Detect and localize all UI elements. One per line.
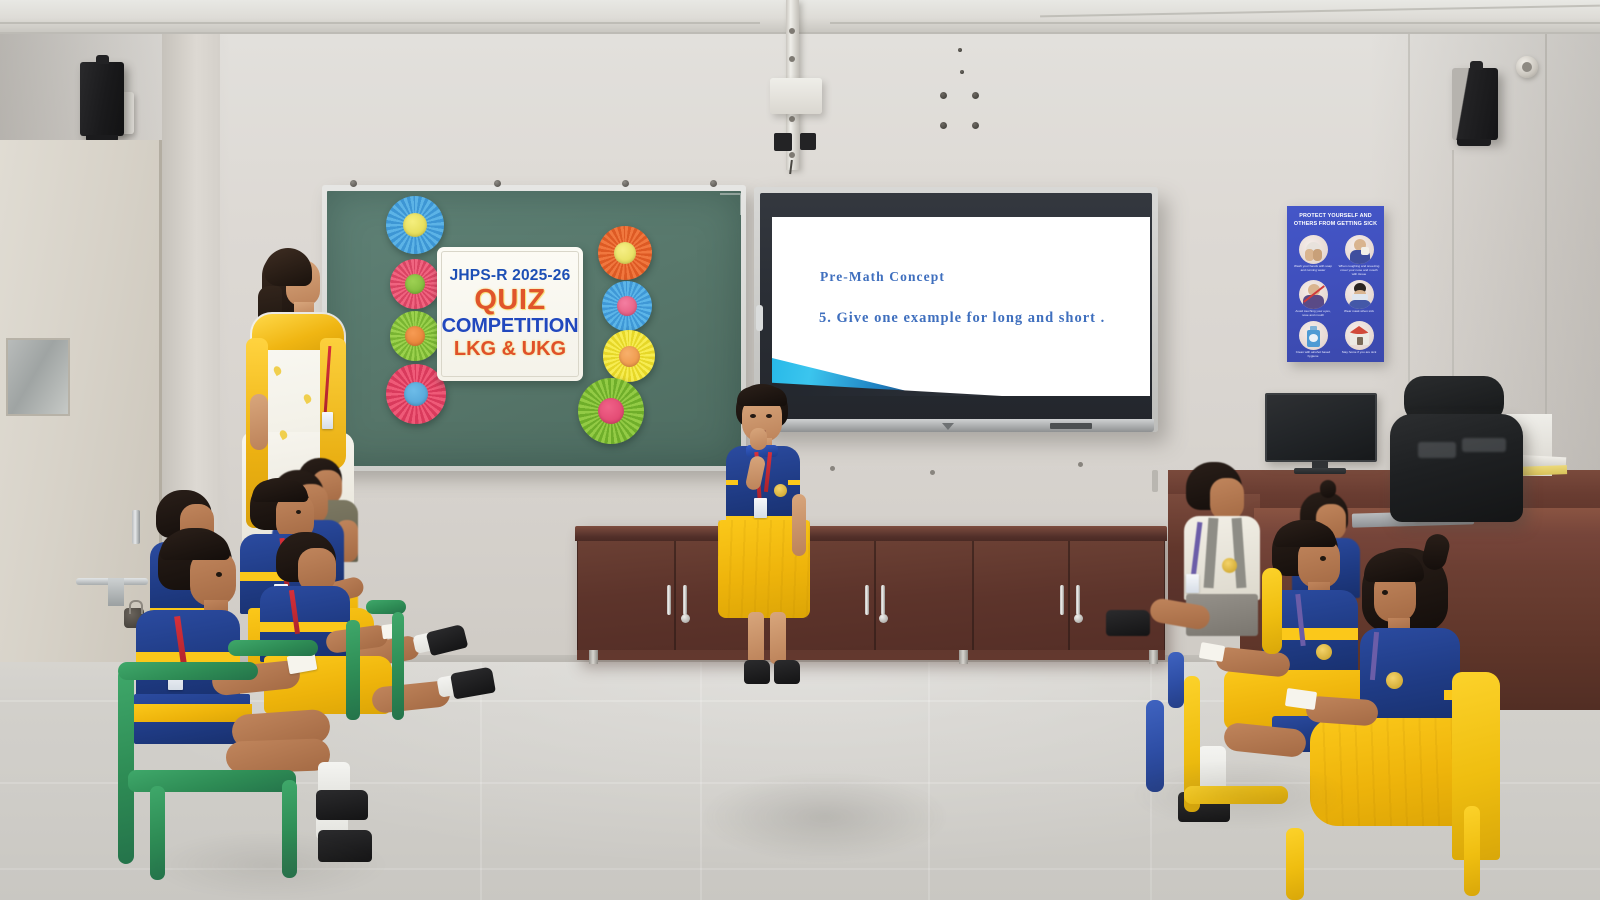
ceiling-seam: [0, 22, 760, 24]
poster-caption: Clean with alcohol based hygiene: [1292, 351, 1334, 359]
cabinet-handle[interactable]: [865, 585, 869, 615]
plastic-chair-green[interactable]: [228, 640, 318, 656]
projector-plate: [770, 78, 822, 114]
cabinet-handle[interactable]: [1060, 585, 1064, 615]
ceiling-fixture-dot: [940, 122, 947, 129]
floor-shadow: [1130, 760, 1350, 830]
shoe: [450, 667, 496, 700]
slide-heading: Pre-Math Concept: [820, 269, 945, 285]
display-bezel: Pre-Math Concept 5. Give one example for…: [760, 193, 1152, 424]
leg: [748, 612, 764, 664]
poster-panel-sanitizer: Clean with alcohol based hygiene: [1292, 321, 1334, 359]
leg: [770, 612, 786, 664]
washing-hands-icon: [1299, 235, 1328, 264]
cabinet-knob[interactable]: [681, 614, 690, 623]
school-emblem: [774, 484, 787, 497]
face: [1210, 478, 1244, 520]
avoid-touching-face-icon: [1299, 280, 1328, 309]
floor-shadow: [150, 830, 390, 900]
poster-panel-cover-cough: When coughing and sneezing cover your no…: [1338, 235, 1380, 277]
floor-shadow: [700, 772, 950, 862]
eye: [750, 414, 756, 418]
placard-line-competition: COMPETITION: [442, 316, 579, 337]
cabinet-door[interactable]: [875, 541, 973, 650]
display-ports: [1050, 423, 1092, 429]
display-screen[interactable]: Pre-Math Concept 5. Give one example for…: [772, 217, 1150, 396]
hair-bun: [1320, 480, 1336, 498]
cabinet-door[interactable]: [577, 541, 675, 650]
chair-reflection: [1462, 438, 1506, 452]
slide-question: 5. Give one example for long and short .: [819, 310, 1105, 327]
ceiling-fixture-dot: [960, 70, 964, 74]
cabinet-handle[interactable]: [881, 585, 885, 615]
wooden-storage-cabinet[interactable]: [577, 526, 1165, 660]
cabinet-door[interactable]: [973, 541, 1069, 650]
ceiling: [0, 0, 1600, 34]
sleeve-trim: [726, 480, 738, 485]
hair-fringe: [1274, 523, 1336, 547]
plastic-chair-green[interactable]: [118, 668, 134, 864]
shoe: [1106, 610, 1150, 636]
ceiling-fixture-dot: [972, 92, 979, 99]
hair-fringe: [1364, 552, 1424, 582]
floor-tile-line: [700, 662, 702, 900]
placard-line-school-year: JHPS-R 2025-26: [450, 268, 571, 284]
cabinet-leg: [1149, 650, 1158, 664]
eye: [1320, 556, 1326, 561]
stay-home-icon: [1345, 321, 1374, 350]
cabinet-countertop: [575, 526, 1167, 541]
wall-speaker-right: [1452, 68, 1498, 140]
display-bottom-bezel: [758, 419, 1154, 432]
paper-rosette-orange: [598, 226, 652, 280]
cabinet-leg: [959, 650, 968, 664]
plastic-chair-yellow[interactable]: [1286, 828, 1304, 900]
hair-fringe: [252, 480, 308, 502]
classroom-scene: JHPS-R 2025-26 QUIZ COMPETITION LKG & UK…: [0, 0, 1600, 900]
paper-rosette-green: [390, 311, 440, 361]
wear-mask-icon: [1345, 280, 1374, 309]
poster-caption: Avoid touching your eyes, nose and mouth: [1292, 310, 1334, 318]
leg: [225, 738, 330, 774]
cabinet-handle[interactable]: [683, 585, 687, 615]
placard-line-classes: LKG & UKG: [454, 339, 566, 360]
eye: [766, 414, 772, 418]
poster-caption: Stay home if you are sick: [1338, 351, 1380, 355]
eye: [216, 572, 222, 577]
arm: [1305, 696, 1379, 727]
poster-caption: Wash your hands with soap and running wa…: [1292, 265, 1334, 273]
id-badge: [1186, 574, 1199, 593]
floor-tile-line: [928, 662, 930, 900]
door-view-window: [6, 338, 70, 416]
ceiling-fixture-dot: [958, 48, 962, 52]
seated-student-right-back: [1178, 462, 1270, 662]
ceiling-sensor-icon: [1516, 56, 1538, 78]
hair-fringe: [160, 532, 230, 560]
eye: [1382, 590, 1388, 595]
ceiling-fixture-dot: [972, 122, 979, 129]
poster-title: PROTECT YOURSELF AND OTHERS FROM GETTING…: [1292, 213, 1379, 229]
papers-stack-yellow[interactable]: [1519, 465, 1567, 476]
id-badge: [322, 412, 333, 429]
mesh-office-chair[interactable]: [1390, 414, 1523, 522]
plastic-chair-green[interactable]: [118, 662, 258, 680]
projector-lens-icon: [774, 133, 792, 151]
wall-speaker-left: [80, 62, 124, 136]
plastic-chair-yellow[interactable]: [1262, 568, 1282, 654]
poster-caption: When coughing and sneezing cover your no…: [1338, 265, 1380, 277]
paper-rosette-yellow: [603, 330, 655, 382]
poster-icon-grid: Wash your hands with soap and running wa…: [1292, 235, 1379, 360]
arm: [792, 494, 806, 556]
cabinet-leg: [589, 650, 598, 664]
desktop-monitor[interactable]: [1265, 393, 1377, 462]
poster-panel-avoid-touching: Avoid touching your eyes, nose and mouth: [1292, 280, 1334, 318]
poster-caption: Wear mask when sick: [1338, 310, 1380, 314]
paper-rosette-lime: [578, 378, 644, 444]
student-presenting: [712, 384, 816, 690]
hand-sanitizer-icon: [1299, 321, 1328, 350]
shoe: [316, 790, 368, 820]
arm: [250, 394, 268, 450]
monitor-base: [1294, 468, 1346, 474]
projector-lens-icon: [800, 133, 816, 150]
sleeve-trim: [788, 480, 800, 485]
board-corner-trim: [720, 193, 742, 215]
shoe: [744, 660, 770, 684]
school-emblem: [1386, 672, 1403, 689]
plastic-chair-yellow[interactable]: [1464, 806, 1480, 896]
ceiling-fixture-dot: [940, 92, 947, 99]
cabinet-handle[interactable]: [1076, 585, 1080, 615]
shoe: [774, 660, 800, 684]
shorts-stripe: [134, 704, 252, 722]
paper-rosette-pink: [390, 259, 440, 309]
cabinet-knob[interactable]: [879, 614, 888, 623]
wall-screw: [830, 466, 835, 471]
display-side-button[interactable]: [756, 305, 763, 331]
display-wall-bracket: [1152, 470, 1158, 492]
plastic-chair-green[interactable]: [392, 612, 404, 720]
seated-student-left-front: [120, 528, 420, 878]
eye: [296, 510, 301, 514]
poster-panel-stay-home: Stay home if you are sick: [1338, 321, 1380, 359]
paper-rosette-blue: [386, 196, 444, 254]
placard-line-quiz: QUIZ: [474, 286, 545, 315]
plastic-chair-blue[interactable]: [1168, 652, 1184, 708]
cover-cough-icon: [1345, 235, 1374, 264]
school-emblem: [1316, 644, 1332, 660]
id-badge: [754, 498, 767, 518]
ceiling-seam: [830, 22, 1600, 24]
quiz-competition-placard: JHPS-R 2025-26 QUIZ COMPETITION LKG & UK…: [437, 247, 583, 381]
hair-fringe: [737, 387, 787, 406]
poster-panel-wear-mask: Wear mask when sick: [1338, 280, 1380, 318]
wall-screw: [1078, 462, 1083, 467]
hair-front: [264, 248, 312, 286]
wall-screw: [930, 470, 935, 475]
cabinet-handle[interactable]: [667, 585, 671, 615]
chair-reflection: [1418, 442, 1456, 458]
paper-rosette-skyblue: [602, 281, 652, 331]
hand: [750, 428, 767, 450]
poster-panel-wash-hands: Wash your hands with soap and running wa…: [1292, 235, 1334, 277]
school-emblem: [1222, 558, 1237, 573]
cabinet-knob[interactable]: [1074, 614, 1083, 623]
health-safety-poster: PROTECT YOURSELF AND OTHERS FROM GETTING…: [1287, 206, 1384, 362]
plastic-chair-green[interactable]: [346, 620, 360, 720]
